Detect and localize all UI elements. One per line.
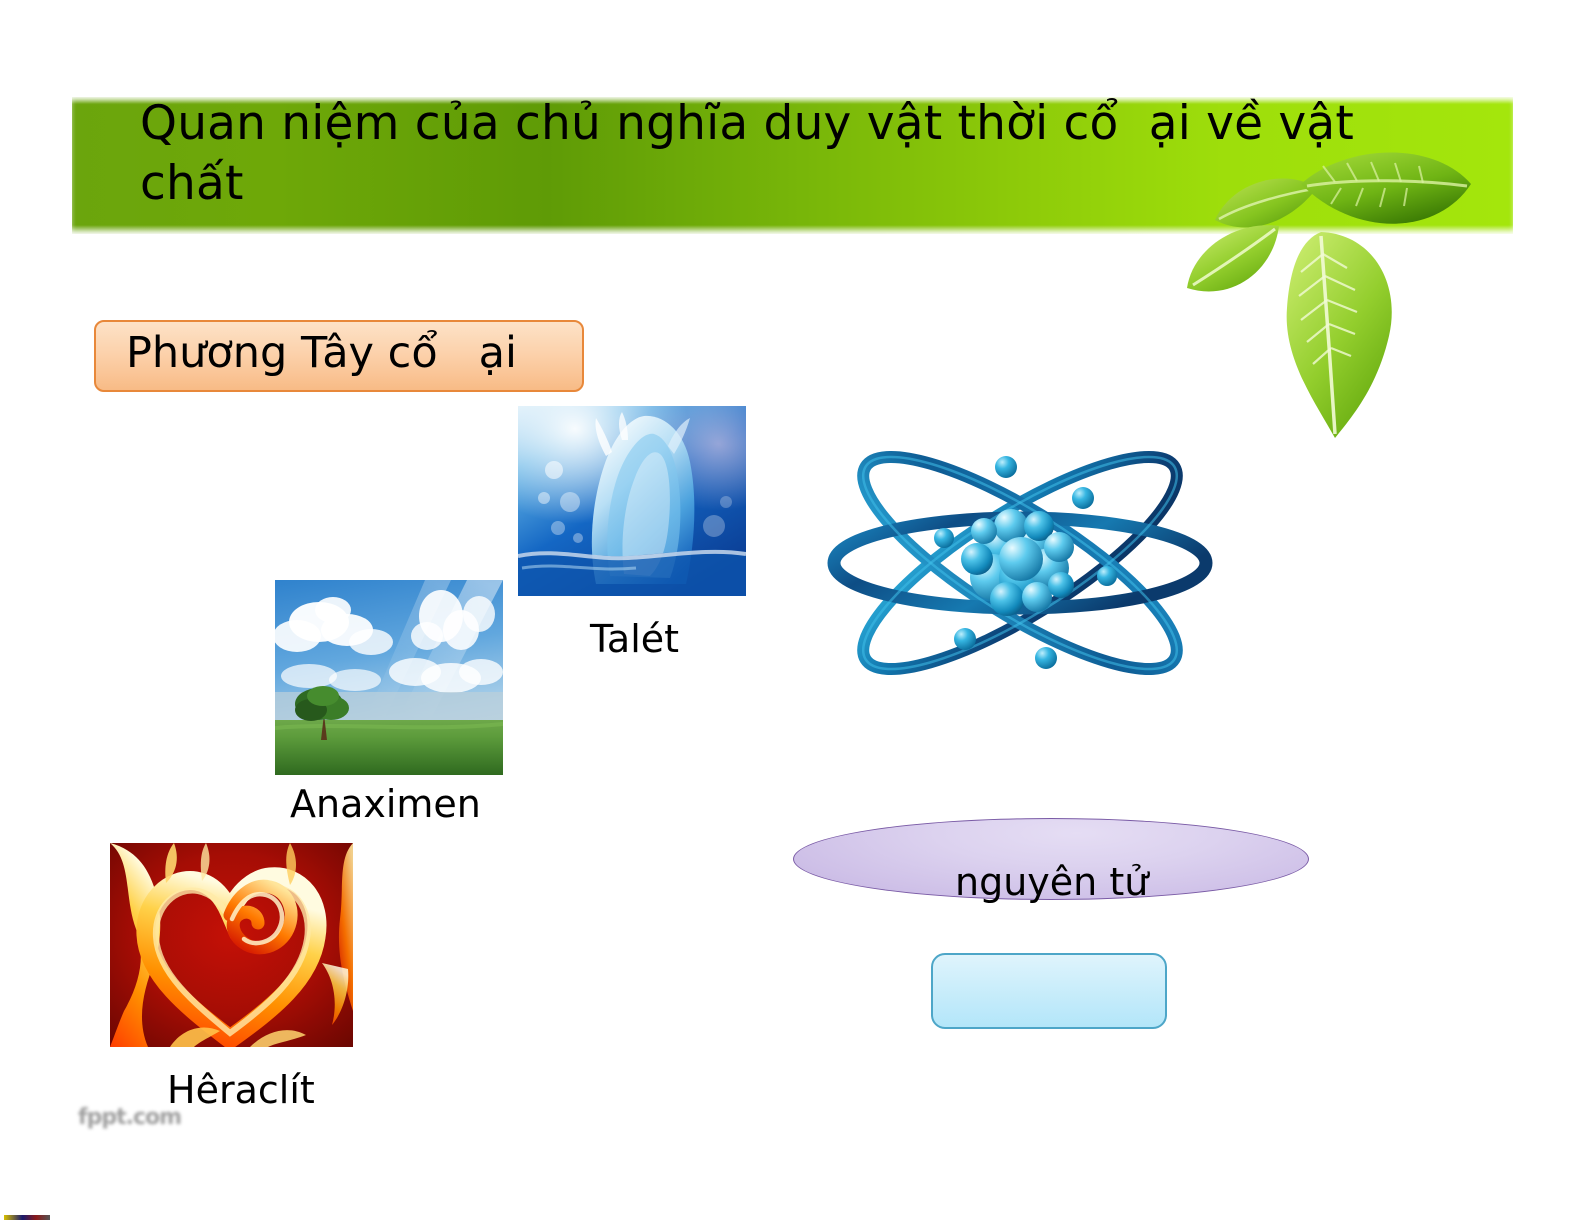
sky-clouds-tree-photo bbox=[275, 580, 503, 775]
empty-blue-callout-box[interactable] bbox=[931, 953, 1167, 1029]
corner-color-mark bbox=[4, 1215, 50, 1220]
page-title: Quan niệm của chủ nghĩa duy vật thời cổ … bbox=[140, 94, 1400, 213]
slide-canvas: Quan niệm của chủ nghĩa duy vật thời cổ … bbox=[0, 0, 1585, 1225]
fire-heart-photo bbox=[110, 843, 353, 1047]
fppt-watermark: fppt.com bbox=[78, 1105, 181, 1130]
caption-heraclit: Hêraclít bbox=[167, 1068, 315, 1112]
subtitle-chip-label: Phương Tây cổ ại bbox=[126, 330, 596, 377]
caption-anaximen: Anaximen bbox=[290, 782, 481, 826]
atom-model-illustration bbox=[825, 363, 1215, 763]
nguyen-tu-label: nguyên tử bbox=[955, 860, 1148, 904]
water-splash-photo bbox=[518, 406, 746, 596]
caption-talet: Talét bbox=[590, 617, 679, 661]
